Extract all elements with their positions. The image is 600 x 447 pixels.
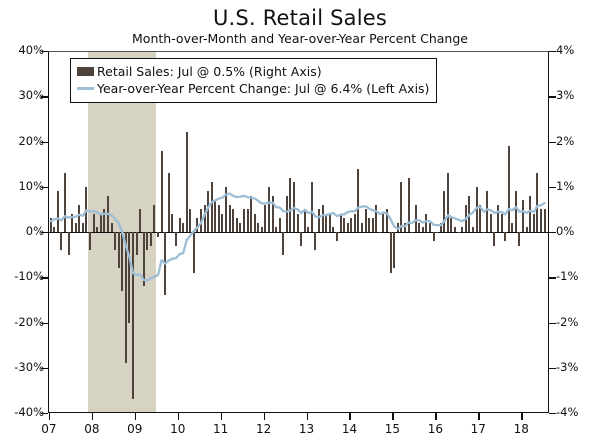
y-tick-right xyxy=(549,96,556,97)
y-label-left: 20% xyxy=(18,134,44,148)
y-label-left: -30% xyxy=(14,360,44,374)
y-tick-right xyxy=(549,277,556,278)
y-tick-right xyxy=(549,51,556,52)
legend-item-retail-sales: Retail Sales: Jul @ 0.5% (Right Axis) xyxy=(77,63,429,80)
x-tick xyxy=(435,413,436,420)
y-tick-right xyxy=(549,368,556,369)
x-label: 14 xyxy=(334,422,364,436)
chart-root: U.S. Retail Sales Month-over-Month and Y… xyxy=(0,0,600,447)
x-label: 10 xyxy=(163,422,193,436)
y-label-left: -20% xyxy=(14,315,44,329)
legend-item-yoy: Year-over-Year Percent Change: Jul @ 6.4… xyxy=(77,80,429,97)
x-label: 18 xyxy=(506,422,536,436)
chart-legend: Retail Sales: Jul @ 0.5% (Right Axis) Ye… xyxy=(70,58,437,103)
x-tick xyxy=(478,413,479,420)
y-tick-right xyxy=(549,323,556,324)
y-label-left: -40% xyxy=(14,405,44,419)
y-tick-right xyxy=(549,142,556,143)
x-tick xyxy=(264,413,265,420)
x-tick xyxy=(307,413,308,420)
line-swatch-icon xyxy=(77,87,94,90)
y-label-right: 4% xyxy=(556,43,574,57)
chart-subtitle: Month-over-Month and Year-over-Year Perc… xyxy=(0,31,600,46)
y-label-left: 10% xyxy=(18,179,44,193)
y-tick-right xyxy=(549,187,556,188)
y-label-right: 1% xyxy=(556,179,574,193)
x-tick xyxy=(178,413,179,420)
y-label-right: 2% xyxy=(556,134,574,148)
x-label: 15 xyxy=(377,422,407,436)
y-label-right: -1% xyxy=(556,269,578,283)
x-label: 09 xyxy=(120,422,150,436)
x-label: 08 xyxy=(77,422,107,436)
y-label-left: -10% xyxy=(14,269,44,283)
page-title: U.S. Retail Sales xyxy=(0,6,600,30)
x-label: 07 xyxy=(34,422,64,436)
x-tick xyxy=(392,413,393,420)
y-label-left: 40% xyxy=(18,43,44,57)
x-label: 17 xyxy=(463,422,493,436)
yoy-line-series xyxy=(48,51,549,413)
legend-label-yoy: Year-over-Year Percent Change: Jul @ 6.4… xyxy=(97,81,429,96)
x-label: 12 xyxy=(249,422,279,436)
y-label-left: 0% xyxy=(26,224,44,238)
y-label-right: 0% xyxy=(556,224,574,238)
legend-label-retail-sales: Retail Sales: Jul @ 0.5% (Right Axis) xyxy=(97,64,322,79)
x-tick xyxy=(221,413,222,420)
y-label-right: 3% xyxy=(556,88,574,102)
y-label-right: -2% xyxy=(556,315,578,329)
x-label: 11 xyxy=(206,422,236,436)
y-label-right: -3% xyxy=(556,360,578,374)
x-tick xyxy=(349,413,350,420)
x-tick xyxy=(49,413,50,420)
y-tick-right xyxy=(549,232,556,233)
x-tick xyxy=(135,413,136,420)
x-label: 13 xyxy=(292,422,322,436)
y-label-left: 30% xyxy=(18,88,44,102)
x-tick xyxy=(92,413,93,420)
y-tick-right xyxy=(549,413,556,414)
plot-area xyxy=(48,51,549,413)
x-tick xyxy=(521,413,522,420)
y-label-right: -4% xyxy=(556,405,578,419)
bar-swatch-icon xyxy=(77,67,94,76)
x-label: 16 xyxy=(420,422,450,436)
